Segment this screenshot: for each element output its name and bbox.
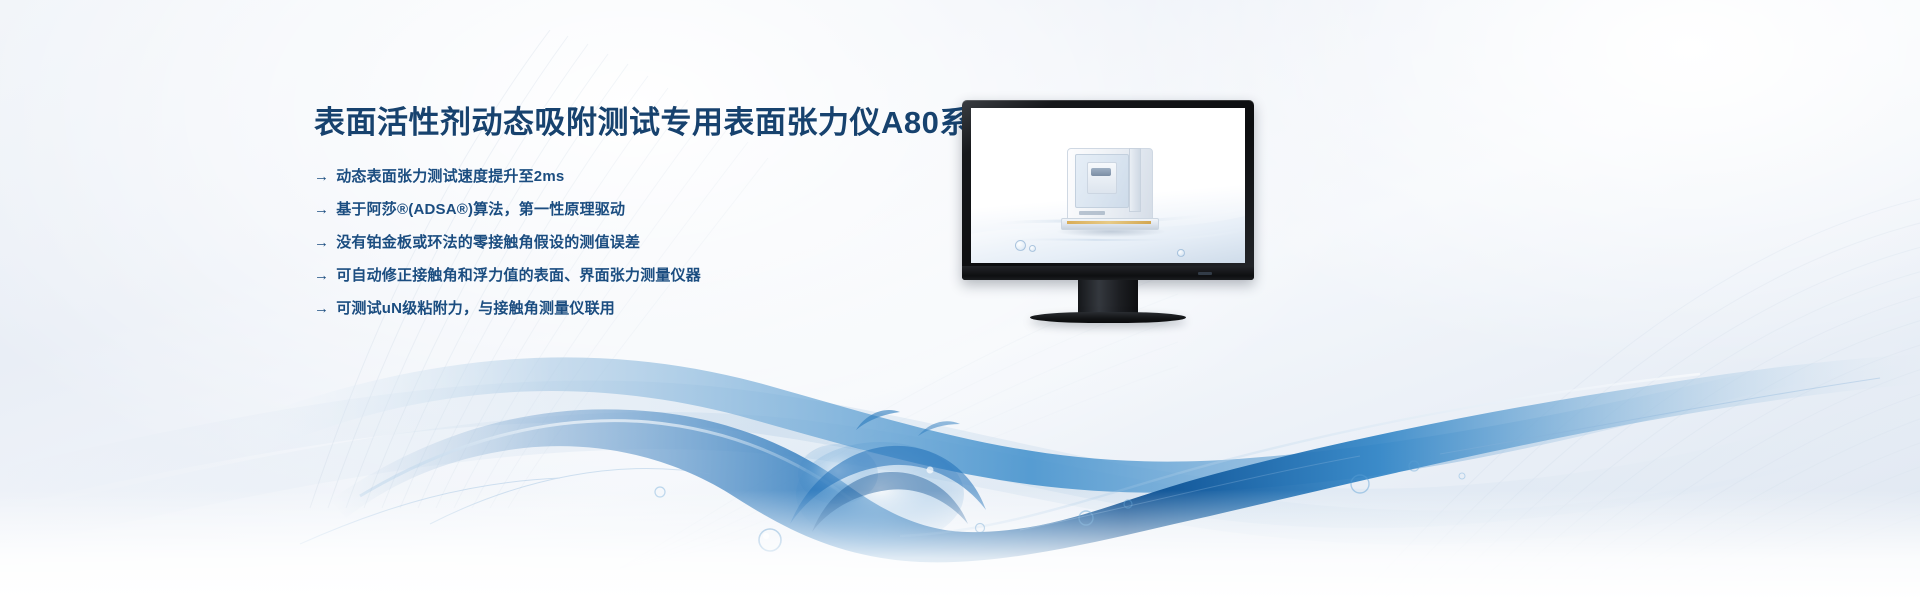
bottom-fade <box>0 490 1920 600</box>
power-led-icon <box>1198 272 1212 275</box>
instrument-accent-strip <box>1067 221 1151 224</box>
instrument-chamber <box>1087 162 1117 194</box>
arrow-right-icon: → <box>314 169 329 184</box>
arrow-right-icon: → <box>314 202 329 217</box>
list-item-label: 可自动修正接触角和浮力值的表面、界面张力测量仪器 <box>336 268 701 283</box>
list-item-label: 动态表面张力测试速度提升至2ms <box>336 169 564 184</box>
monitor-neck <box>1078 280 1138 316</box>
feature-list: → 动态表面张力测试速度提升至2ms → 基于阿莎®(ADSA®)算法，第一性原… <box>314 169 701 334</box>
arrow-right-icon: → <box>314 268 329 283</box>
arrow-right-icon: → <box>314 301 329 316</box>
list-item: → 基于阿莎®(ADSA®)算法，第一性原理驱动 <box>314 202 701 235</box>
hero-banner: 表面活性剂动态吸附测试专用表面张力仪A80系列 → 动态表面张力测试速度提升至2… <box>0 0 1920 600</box>
bubble-icon <box>1015 240 1026 251</box>
list-item: → 动态表面张力测试速度提升至2ms <box>314 169 701 202</box>
instrument-weighing-pan <box>1091 168 1111 176</box>
instrument-column <box>1129 148 1141 212</box>
list-item: → 没有铂金板或环法的零接触角假设的测值误差 <box>314 235 701 268</box>
list-item-label: 可测试uN级粘附力，与接触角测量仪联用 <box>336 301 615 316</box>
list-item: → 可自动修正接触角和浮力值的表面、界面张力测量仪器 <box>314 268 701 301</box>
page-title: 表面活性剂动态吸附测试专用表面张力仪A80系列 <box>314 97 1002 142</box>
instrument-base <box>1061 218 1159 230</box>
arrow-right-icon: → <box>314 235 329 250</box>
bubble-icon <box>1177 249 1185 257</box>
monitor-screen <box>971 108 1245 263</box>
list-item-label: 没有铂金板或环法的零接触角假设的测值误差 <box>336 235 640 250</box>
lcd-monitor <box>962 100 1254 322</box>
bubble-icon <box>1029 245 1036 252</box>
list-item-label: 基于阿莎®(ADSA®)算法，第一性原理驱动 <box>336 202 625 217</box>
instrument-logo <box>1079 211 1105 215</box>
